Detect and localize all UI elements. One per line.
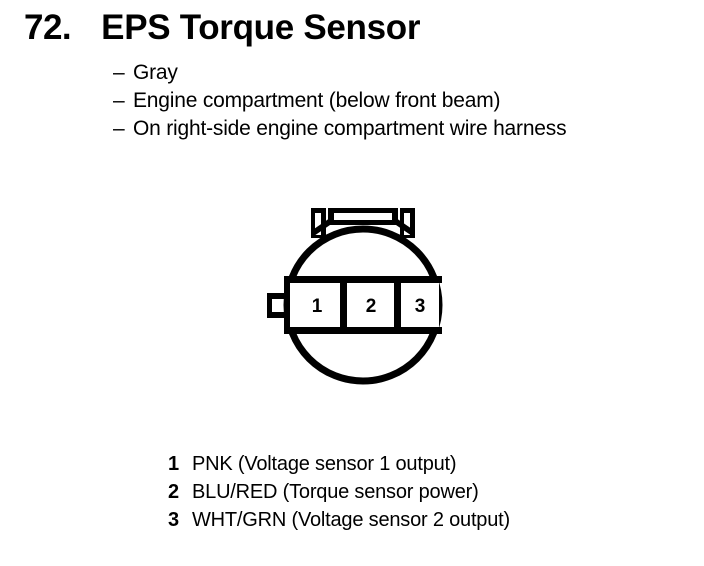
cavity-left-wall [284,279,290,331]
dash-icon: – [113,87,133,115]
legend-row: 1PNK (Voltage sensor 1 output) [168,450,668,478]
connector-drawing: 1 2 3 [255,198,455,398]
section-number: 72. [24,8,71,48]
cavity-label-2: 2 [366,296,377,317]
pin-legend: 1PNK (Voltage sensor 1 output) 2BLU/RED … [168,450,668,534]
list-item: –Gray [113,59,693,87]
cavity-divider-2-3 [394,279,401,331]
list-item-label: On right-side engine compartment wire ha… [133,117,566,140]
legend-pin-number: 3 [168,506,192,534]
cavity-divider-1-2 [340,279,347,331]
legend-pin-description: WHT/GRN (Voltage sensor 2 output) [192,509,510,531]
cavity-label-3: 3 [415,296,426,317]
legend-pin-number: 2 [168,478,192,506]
title-row: 72.EPS Torque Sensor [24,8,420,48]
list-item-label: Engine compartment (below front beam) [133,89,500,112]
polarizing-key-tab [267,293,286,318]
legend-pin-number: 1 [168,450,192,478]
connector-details-list: –Gray –Engine compartment (below front b… [113,59,693,143]
list-item: –On right-side engine compartment wire h… [113,115,693,143]
connector-diagram: 1 2 3 [255,198,455,398]
cavity-label-1: 1 [312,296,323,317]
legend-pin-description: BLU/RED (Torque sensor power) [192,481,479,503]
legend-pin-description: PNK (Voltage sensor 1 output) [192,453,456,475]
cavity-band-bottom-rail [284,327,442,334]
legend-row: 2BLU/RED (Torque sensor power) [168,478,668,506]
legend-row: 3WHT/GRN (Voltage sensor 2 output) [168,506,668,534]
list-item: –Engine compartment (below front beam) [113,87,693,115]
dash-icon: – [113,59,133,87]
page-title: EPS Torque Sensor [101,8,420,48]
cavity-band-top-rail [284,276,442,283]
list-item-label: Gray [133,61,178,84]
dash-icon: – [113,115,133,143]
latch-center-bar [328,208,398,225]
